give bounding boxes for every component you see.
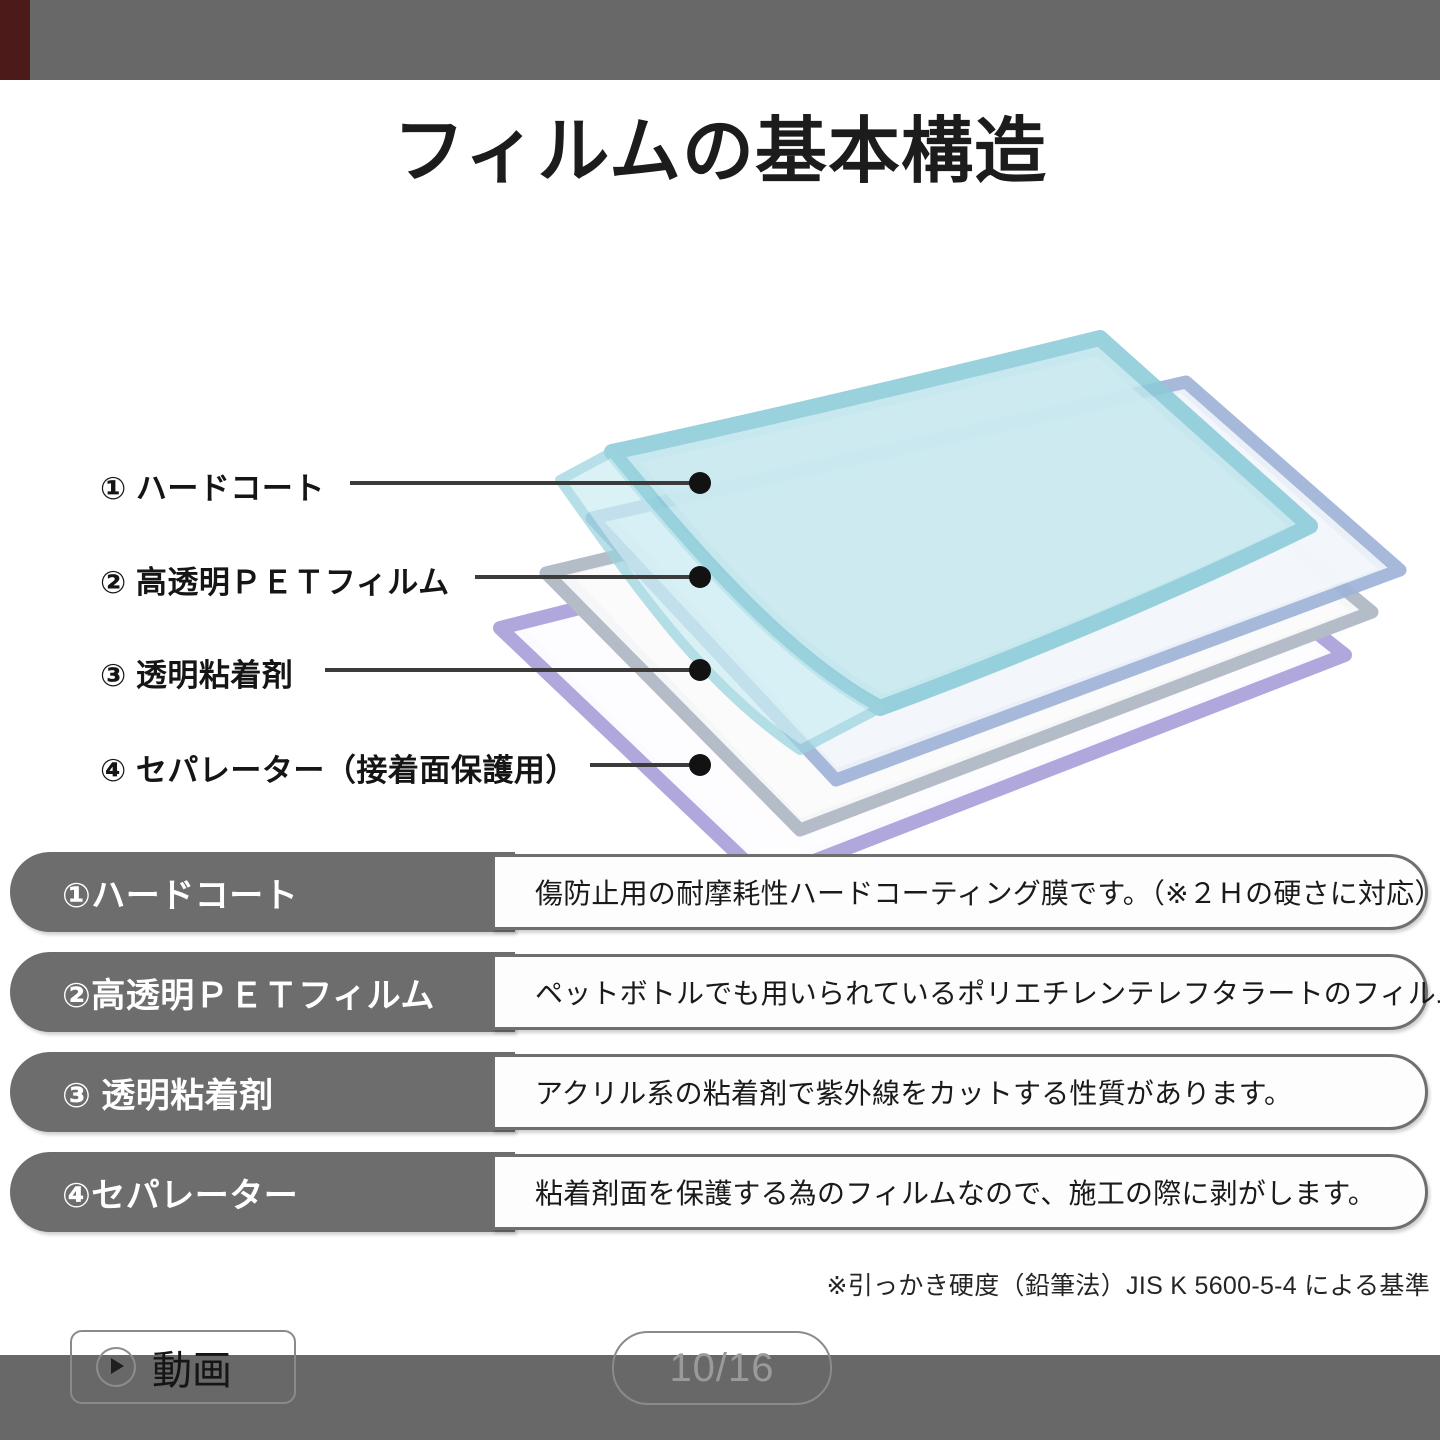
top-bar-accent-strip <box>0 0 30 80</box>
slide-canvas: フィルムの基本構造 <box>0 80 1440 1355</box>
legend-term-label: ①ハードコート <box>62 868 298 917</box>
legend-desc-pet-film: ペットボトルでも用いられているポリエチレンテレフタラートのフィルム。 <box>492 954 1428 1030</box>
page-indicator-label: 10/16 <box>669 1346 774 1391</box>
footnote-text: ※引っかき硬度（鉛筆法）JIS K 5600-5-4 による基準 <box>826 1266 1430 1302</box>
legend-term-adhesive: ③ 透明粘着剤 <box>10 1052 515 1132</box>
legend-term-hard-coat: ①ハードコート <box>10 852 515 932</box>
table-row: ①ハードコート 傷防止用の耐摩耗性ハードコーティング膜です。（※２Ｈの硬さに対応… <box>0 852 1440 932</box>
table-row: ③ 透明粘着剤 アクリル系の粘着剤で紫外線をカットする性質があります。 <box>0 1052 1440 1132</box>
app-top-bar <box>0 0 1440 80</box>
legend-term-pet-film: ②高透明ＰＥＴフィルム <box>10 952 515 1032</box>
legend-desc-separator: 粘着剤面を保護する為のフィルムなので、施工の際に剥がします。 <box>492 1154 1428 1230</box>
legend-desc-adhesive: アクリル系の粘着剤で紫外線をカットする性質があります。 <box>492 1054 1428 1130</box>
legend-term-label: ④セパレーター <box>62 1168 298 1217</box>
legend-desc-text: アクリル系の粘着剤で紫外線をカットする性質があります。 <box>535 1072 1292 1112</box>
callout-label-pet-film: ② 高透明ＰＥＴフィルム <box>100 557 450 602</box>
page-title: フィルムの基本構造 <box>0 116 1440 188</box>
play-icon <box>96 1347 136 1387</box>
legend-term-label: ②高透明ＰＥＴフィルム <box>62 968 435 1017</box>
table-row: ④セパレーター 粘着剤面を保護する為のフィルムなので、施工の際に剥がします。 <box>0 1152 1440 1232</box>
legend-desc-hard-coat: 傷防止用の耐摩耗性ハードコーティング膜です。（※２Ｈの硬さに対応） <box>492 854 1428 930</box>
legend-term-separator: ④セパレーター <box>10 1152 515 1232</box>
callout-label-hard-coat: ① ハードコート <box>100 463 325 508</box>
video-button-label: 動画 <box>152 1338 232 1396</box>
page-indicator[interactable]: 10/16 <box>612 1331 832 1405</box>
table-row: ②高透明ＰＥＴフィルム ペットボトルでも用いられているポリエチレンテレフタラート… <box>0 952 1440 1032</box>
legend-desc-text: ペットボトルでも用いられているポリエチレンテレフタラートのフィルム。 <box>535 972 1440 1012</box>
callout-label-adhesive: ③ 透明粘着剤 <box>100 650 293 695</box>
callout-label-separator: ④ セパレーター（接着面保護用） <box>100 745 577 790</box>
legend-desc-text: 傷防止用の耐摩耗性ハードコーティング膜です。（※２Ｈの硬さに対応） <box>535 872 1440 912</box>
video-button[interactable]: 動画 <box>70 1330 296 1404</box>
player-bottom-bar: 動画 10/16 <box>0 1355 1440 1440</box>
legend-term-label: ③ 透明粘着剤 <box>62 1068 274 1117</box>
layer-legend-table: ①ハードコート 傷防止用の耐摩耗性ハードコーティング膜です。（※２Ｈの硬さに対応… <box>0 852 1440 1252</box>
legend-desc-text: 粘着剤面を保護する為のフィルムなので、施工の際に剥がします。 <box>535 1172 1376 1212</box>
